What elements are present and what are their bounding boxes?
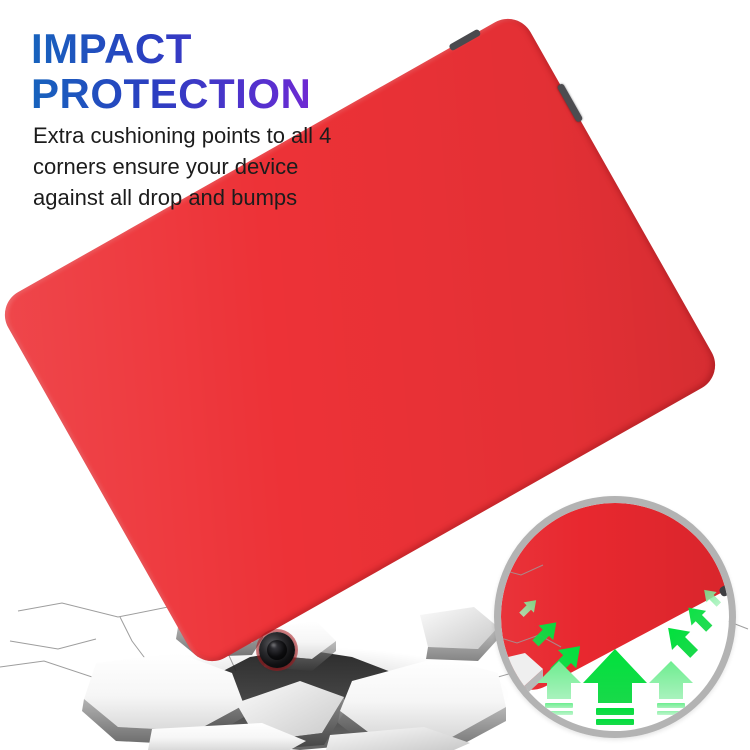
magnifier-ring bbox=[494, 496, 736, 738]
page-title-line-1: IMPACT bbox=[31, 26, 451, 71]
headline-block: IMPACT PROTECTION bbox=[31, 26, 451, 116]
marketing-banner: IMPACT PROTECTION Extra cushioning point… bbox=[0, 0, 750, 750]
page-title-line-2: PROTECTION bbox=[31, 71, 451, 116]
camera-lens-icon bbox=[267, 640, 287, 660]
magnifier-inset bbox=[494, 496, 736, 738]
camera-module bbox=[259, 632, 295, 668]
camera-glint bbox=[271, 643, 276, 647]
body-description: Extra cushioning points to all 4 corners… bbox=[33, 120, 333, 213]
